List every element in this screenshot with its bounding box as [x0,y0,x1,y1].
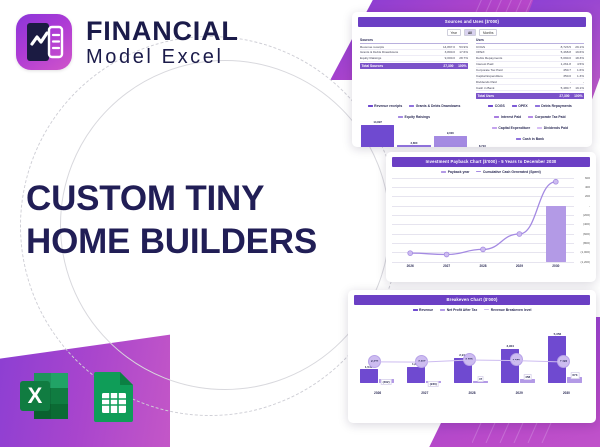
uses-value: 5,090.0 [554,56,571,60]
uses-table: Uses COGS8,723.529.1%OPEX5,468.819.6%Deb… [476,38,584,98]
legend-swatch [492,127,497,129]
poster-canvas: FINANCIAL Model Excel CUSTOM TINY HOME B… [0,0,600,447]
period-tabs[interactable]: Year All Months [358,29,586,36]
bar-column: - [559,141,570,147]
page-title: CUSTOM TINY HOME BUILDERS [26,178,317,263]
bar-value-label: 9,000 [447,131,454,135]
x-tick-label: 2030 [538,264,574,268]
legend-swatch [476,171,481,172]
page-title-line-2: HOME BUILDERS [26,221,317,264]
npat-bar: 458 [520,379,535,383]
bar-column: 451 [532,141,543,147]
x-tick-label: 2028 [465,264,501,268]
uses-name: COGS [476,45,554,49]
bar-column: 350 [545,141,556,147]
legend-item: Net Profit After Tax [440,308,477,312]
uses-value: - [554,80,571,84]
sources-pct: 28.7% [455,56,468,60]
revenue-value-label: 5,356 [553,331,562,336]
y-tick-label: (1,000) [575,250,590,254]
revenue-value-label: 3,904 [506,344,515,349]
legend-item: Interest Paid [494,115,521,119]
uses-value: 450.7 [554,68,571,72]
legend-swatch [409,105,414,107]
gridline [392,262,574,263]
legend-label: Capital Expenditure [498,126,530,130]
uses-row: Cash in Bank5,480.719.1% [476,85,584,91]
bar-value-label: 3,800 [410,141,417,145]
uses-name: Dividends Paid [476,80,554,84]
legend-swatch [537,127,542,129]
sources-value: 3,800.0 [438,50,455,54]
legend-label: Revenue receipts [374,104,402,108]
breakeven-group: 1,540(462) [360,365,396,382]
breakeven-group: 1,848(230) [407,365,443,383]
financial-model-logo-icon [16,14,72,70]
npat-value-label: 458 [523,374,532,381]
y-tick-label: (400) [575,222,590,226]
uses-name: Debts Repayments [476,56,554,60]
legend-swatch [535,105,540,107]
legend-item: Grants & Debts Drawdowns [409,104,460,108]
brand-lockup: FINANCIAL Model Excel [16,14,239,70]
sources-total-pct: 100% [454,64,467,68]
bar-column: 14,897 [361,119,394,147]
card-title-sources-uses: Sources and Uses ($'000) [358,17,586,27]
legend-item: Payback year [441,170,469,174]
y-tick-label: 600 [575,176,590,180]
breakeven-plot-area: 1,540(462)2,4391,848(230)2,4072,914472,6… [354,317,590,395]
uses-total-row: Total Uses 27,300 100% [476,93,584,99]
legend-swatch [488,105,493,107]
uses-total-pct: 100% [570,94,583,98]
bar-value-label: 8,723 [479,144,486,147]
y-tick-label: (600) [575,232,590,236]
legend-item: COGS [488,104,505,108]
payback-x-axis: 20262027202820292030 [392,264,590,268]
legend-swatch [494,116,499,118]
legend-label: Cumulative Cash Generated (Spent) [483,170,541,174]
legend-swatch [368,105,373,107]
sources-value: 14,897.0 [438,45,455,49]
legend-label: COGS [495,104,505,108]
y-tick-label: 200 [575,194,590,198]
legend-item: Debts Repayments [535,104,572,108]
y-tick-label: (200) [575,213,590,217]
sources-row: Equity Raisings9,000.028.7% [360,56,468,62]
x-tick-label: 2026 [354,391,401,395]
bar-column: 5,090 [504,141,515,147]
card-title-breakeven: Breakeven Chart ($'000) [354,295,590,305]
sources-total-value: 27,300 [437,64,454,68]
sources-pct: 17.6% [455,50,468,54]
payback-plot-area: 600400200-(200)(400)(600)(800)(1,000)(1,… [392,178,590,262]
tab-all[interactable]: All [464,29,476,36]
card-title-payback: Investment Payback Chart ($'000) - 5 Yea… [392,157,590,167]
tab-months[interactable]: Months [479,29,497,36]
uses-total-label: Total Uses [478,94,553,98]
npat-bar: (462) [379,379,394,383]
card-sources-and-uses[interactable]: Sources and Uses ($'000) Year All Months… [352,12,592,147]
uses-name: Cash in Bank [476,86,554,90]
sources-total-row: Total Sources 27,300 100% [360,63,468,69]
y-tick-label: (1,200) [575,260,590,264]
sources-name: Revenue receipts [360,45,438,49]
uses-pct: 4.5% [571,62,584,66]
payback-chart-legend: Payback yearCumulative Cash Generated (S… [392,170,590,174]
revenue-bar: 1,540 [360,369,378,382]
uses-value: 5,468.8 [554,50,571,54]
uses-pct: 18.3% [571,56,584,60]
breakeven-node: 2,439 [368,355,381,368]
uses-pct: 1.6% [571,68,584,72]
legend-swatch [528,116,533,118]
x-tick-label: 2027 [428,264,464,268]
uses-value: 5,480.7 [554,86,571,90]
legend-label: Revenue [419,308,433,312]
legend-item: Corporate Tax Paid [528,115,565,119]
bar-column: 3,800 [397,119,430,147]
legend-label: Interest Paid [501,115,521,119]
legend-swatch [413,309,418,311]
uses-pct: 29.1% [571,45,584,49]
bar-column: 5,469 [491,141,502,147]
bar-value-label: 14,897 [373,120,382,124]
x-tick-label: 2030 [543,391,590,395]
sources-chart-legend: Revenue receiptsGrants & Debts Drawdowns… [361,104,467,119]
uses-name: Interest Paid [476,62,554,66]
y-tick-label: 400 [575,185,590,189]
bar-column: 8,723 [477,141,488,147]
legend-item: Capital Expenditure [492,126,530,130]
brand-line-1: FINANCIAL [86,18,239,45]
platform-icons: X [18,367,140,425]
brand-wordmark: FINANCIAL Model Excel [86,18,239,67]
bar [434,136,467,147]
npat-bar: 673 [567,377,582,383]
uses-name: Capital Expenditure [476,74,554,78]
legend-swatch [398,116,403,118]
legend-label: Corporate Tax Paid [535,115,566,119]
x-tick-label: 2027 [401,391,448,395]
uses-pct: 1.3% [571,74,584,78]
legend-label: Debts Repayments [541,104,572,108]
legend-label: OPEX [518,104,527,108]
card-breakeven[interactable]: Breakeven Chart ($'000) RevenueNet Profi… [348,290,596,423]
uses-bars: 8,7235,4695,0901,262451350-5,481 [477,141,583,147]
uses-value: 350.0 [554,74,571,78]
legend-item: Revenue Breakeven level [484,308,531,312]
legend-item: Dividends Paid [537,126,568,130]
sources-total-label: Total Sources [362,64,437,68]
y-tick-label: - [575,204,590,208]
uses-name: OPEX [476,50,554,54]
bar-column: 5,481 [572,141,583,147]
bar [361,125,394,147]
bar-column: 1,262 [518,141,529,147]
sources-bar-chart: Revenue receiptsGrants & Debts Drawdowns… [361,101,467,147]
breakeven-x-axis: 20262027202820292030 [354,391,590,395]
legend-item: Revenue receipts [368,104,403,108]
tab-year[interactable]: Year [447,29,461,36]
npat-value-label: 673 [571,372,580,379]
breakeven-node: 2,656 [463,353,476,366]
sources-bars: 14,8973,8009,000 [361,119,467,147]
npat-value-label: (462) [381,379,392,386]
legend-item: Revenue [413,308,434,312]
uses-chart-legend: COGSOPEXDebts RepaymentsInterest PaidCor… [477,104,583,141]
y-tick-label: (800) [575,241,590,245]
legend-label: Revenue Breakeven level [491,308,532,312]
x-tick-label: 2029 [496,391,543,395]
bar [397,145,430,147]
legend-item: OPEX [512,104,528,108]
sources-pct: 53.9% [455,45,468,49]
uses-pct: 19.6% [571,50,584,54]
legend-swatch [484,309,489,310]
uses-name: Corporate Tax Paid [476,68,554,72]
uses-bar-chart: COGSOPEXDebts RepaymentsInterest PaidCor… [477,101,583,147]
svg-text:X: X [28,383,43,408]
legend-item: Cumulative Cash Generated (Spent) [476,170,540,174]
uses-pct: 19.1% [571,86,584,90]
uses-total-value: 27,300 [553,94,570,98]
npat-bar: (230) [426,381,441,383]
npat-value-label: (230) [428,381,439,388]
breakeven-node: 2,422 [557,355,570,368]
page-title-line-1: CUSTOM TINY [26,178,317,221]
legend-label: Net Profit After Tax [447,308,478,312]
breakeven-chart-legend: RevenueNet Profit After TaxRevenue Break… [354,308,590,312]
legend-label: Dividends Paid [544,126,568,130]
microsoft-excel-icon: X [18,367,70,425]
npat-value-label: 47 [477,376,484,383]
x-tick-label: 2028 [448,391,495,395]
sources-name: Grants & Debts Drawdowns [360,50,438,54]
legend-swatch [441,171,446,173]
sources-name: Equity Raisings [360,56,438,60]
google-sheets-icon [88,367,140,425]
uses-value: 1,261.8 [554,62,571,66]
card-investment-payback[interactable]: Investment Payback Chart ($'000) - 5 Yea… [386,152,596,282]
revenue-bar: 1,848 [407,367,425,383]
uses-pct: - [571,80,584,84]
x-tick-label: 2026 [392,264,428,268]
sources-table: Sources Revenue receipts14,897.053.9%Gra… [360,38,468,98]
npat-bar: 47 [473,381,488,383]
legend-swatch [440,309,445,311]
legend-label: Grants & Debts Drawdowns [416,104,461,108]
bar-column: 9,000 [434,119,467,147]
x-tick-label: 2029 [501,264,537,268]
brand-line-2: Model Excel [86,47,239,67]
legend-label: Payback year [448,170,470,174]
payback-line [392,178,574,262]
sources-value: 9,000.0 [438,56,455,60]
uses-value: 8,723.5 [554,45,571,49]
legend-swatch [512,105,517,107]
legend-swatch [516,138,521,140]
